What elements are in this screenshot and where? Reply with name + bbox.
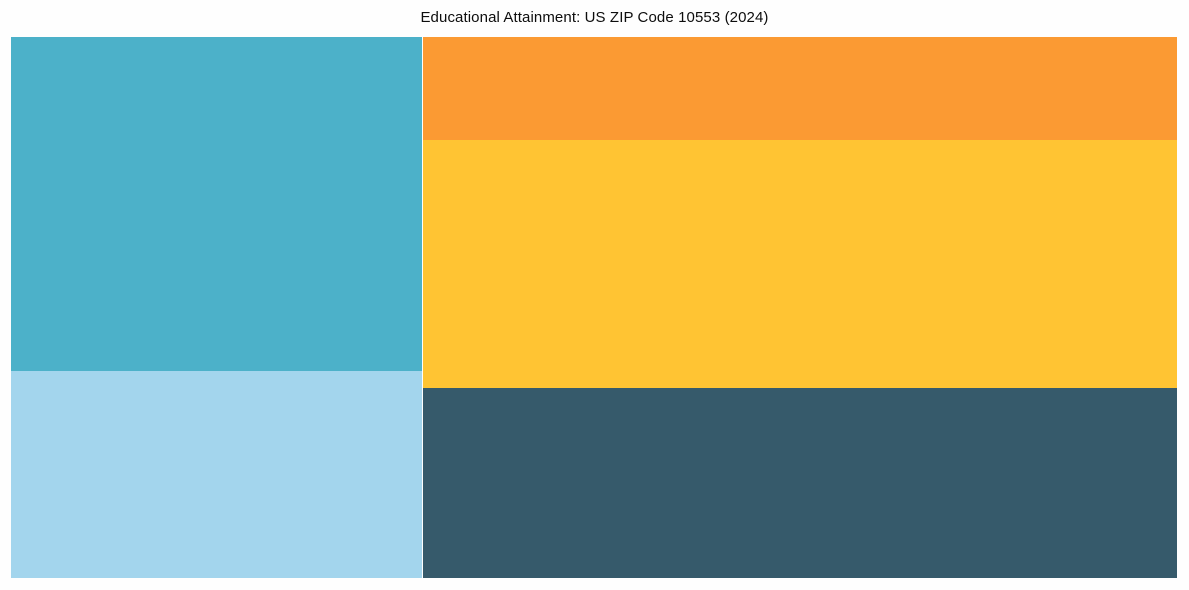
chart-title: Educational Attainment: US ZIP Code 1055… (0, 0, 1189, 37)
treemap-plot-area: Some college or associate's Bachelor's d… (11, 37, 1177, 578)
treemap-tile-some-college[interactable]: Some college or associate's (11, 37, 422, 371)
treemap-tile-less-than-high-school[interactable]: Less than high school (423, 388, 1177, 578)
figure-canvas: Educational Attainment: US ZIP Code 1055… (0, 0, 1189, 590)
treemap-tile-bachelors-degree[interactable]: Bachelor's degree (423, 37, 1177, 140)
treemap-tile-graduate-professional-degree[interactable]: Graduate or professional degree (11, 371, 422, 578)
treemap-tile-high-school-graduate[interactable]: High school graduate (423, 140, 1177, 388)
